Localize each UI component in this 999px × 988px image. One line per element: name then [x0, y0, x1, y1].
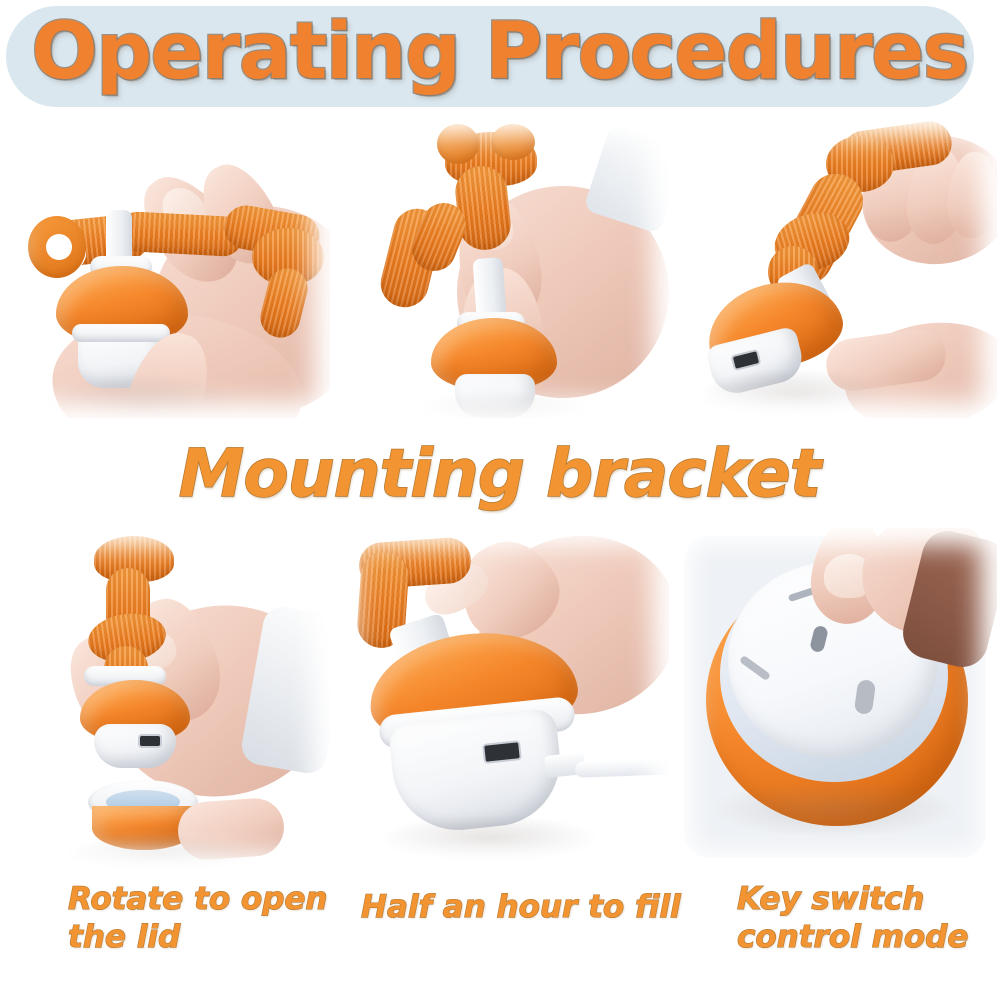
caption-step-5: Half an hour to fill [361, 888, 681, 926]
caption-step-4: Rotate to open the lid [68, 880, 338, 956]
step-image-1 [2, 118, 330, 418]
section-heading-mounting-bracket: Mounting bracket [0, 438, 999, 510]
caption-line: Rotate to open [68, 880, 338, 918]
page-title: Operating Procedures [0, 4, 999, 100]
rope-fray [491, 124, 535, 160]
caption-step-6: Key switch control mode [737, 880, 997, 956]
photo-shadow [710, 780, 960, 838]
toy-base-ring [72, 324, 170, 342]
usb-port [140, 736, 160, 746]
rope-fray [437, 124, 479, 164]
toy-base [94, 724, 176, 768]
photo-shadow [696, 368, 896, 418]
step-image-6 [676, 528, 997, 868]
caption-line: Key switch [737, 880, 997, 918]
step-image-2 [339, 118, 669, 418]
step-image-5 [339, 528, 669, 868]
caption-line: control mode [737, 918, 997, 956]
photo-shadow [379, 814, 599, 864]
caption-line: Half an hour to fill [361, 888, 681, 926]
caption-line: the lid [68, 918, 338, 956]
step-image-3 [676, 118, 997, 418]
rope-loop-hole-inner [46, 234, 72, 260]
charging-cable [575, 758, 669, 777]
step-image-4 [2, 528, 330, 868]
